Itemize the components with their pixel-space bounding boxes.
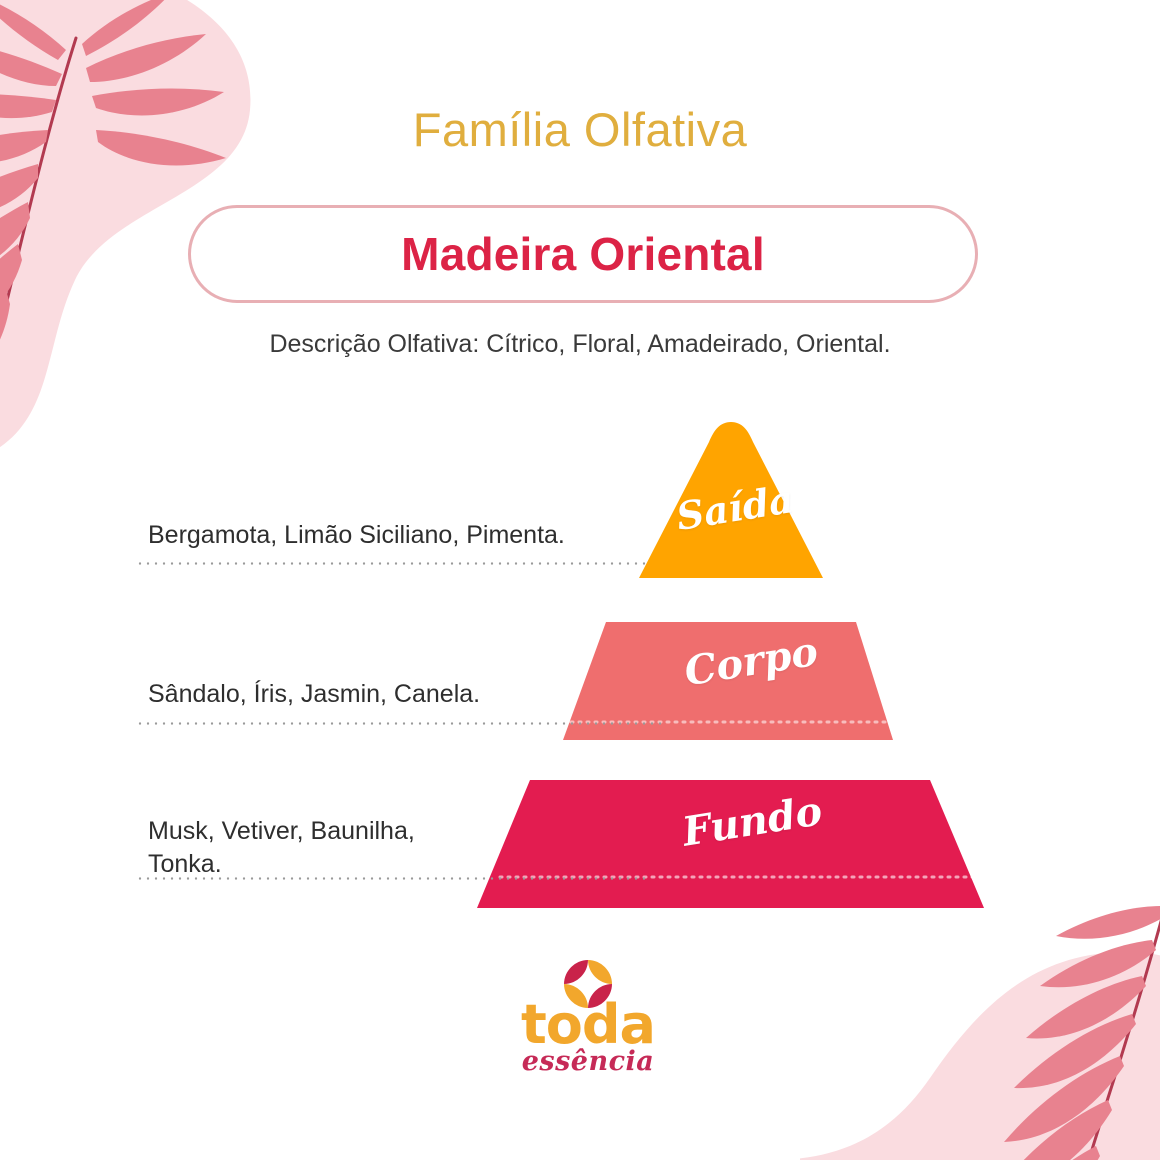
fragrance-name-pill: Madeira Oriental [188,205,978,303]
logo-wordmark: toda [503,998,673,1052]
olfactory-description: Descrição Olfativa: Cítrico, Floral, Ama… [0,330,1160,359]
fragrance-name: Madeira Oriental [401,227,765,281]
leader-line-corpo [136,722,666,725]
brand-logo: toda essência [503,958,673,1074]
header: Família Olfativa [0,104,1160,156]
notes-saida: Bergamota, Limão Siciliano, Pimenta. [148,519,565,552]
poster-canvas: Família Olfativa Madeira Oriental Descri… [0,0,1160,1160]
page-title: Família Olfativa [0,104,1160,156]
notes-corpo: Sândalo, Íris, Jasmin, Canela. [148,678,480,711]
leader-line-saida [136,562,646,565]
notes-fundo: Musk, Vetiver, Baunilha, Tonka. [148,815,415,881]
leader-line-fundo [136,877,651,880]
logo-tagline: essência [503,1048,673,1075]
notes-fundo-line-1: Musk, Vetiver, Baunilha, [148,815,415,848]
